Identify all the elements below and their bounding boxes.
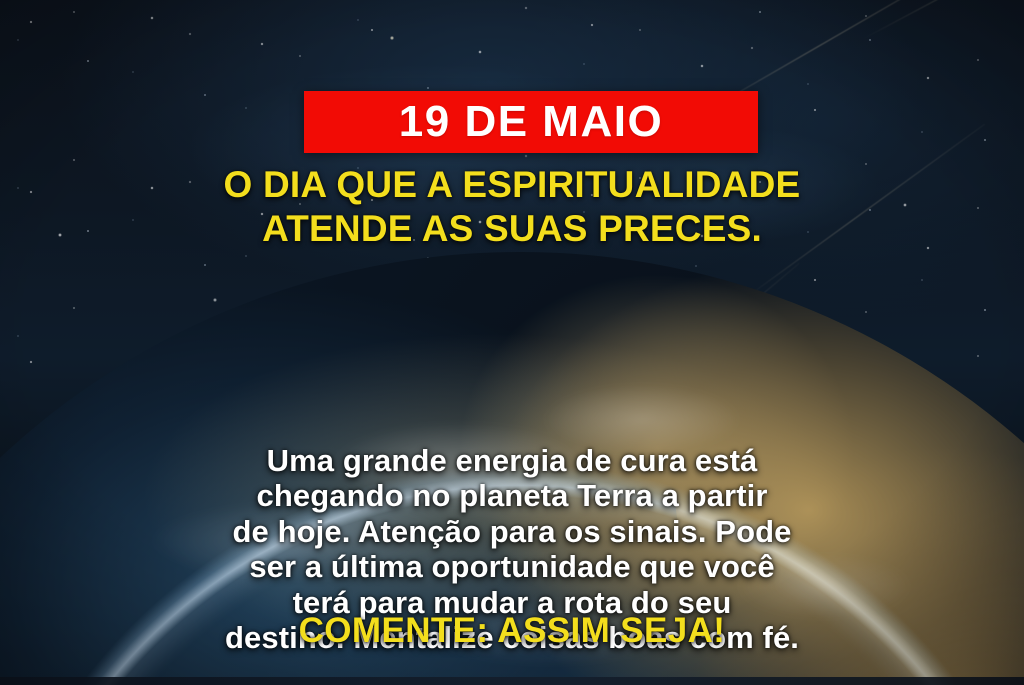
body-line-4: ser a última oportunidade que você bbox=[56, 549, 968, 584]
headline-line-2: ATENDE AS SUAS PRECES. bbox=[30, 207, 994, 251]
body-line-2: chegando no planeta Terra a partir bbox=[56, 478, 968, 513]
body-line-1: Uma grande energia de cura está bbox=[56, 443, 968, 478]
date-banner-text: 19 DE MAIO bbox=[399, 100, 663, 144]
poster-content: 19 DE MAIO O DIA QUE A ESPIRITUALIDADE A… bbox=[0, 0, 1024, 685]
poster-canvas: 19 DE MAIO O DIA QUE A ESPIRITUALIDADE A… bbox=[0, 0, 1024, 685]
headline-line-1: O DIA QUE A ESPIRITUALIDADE bbox=[30, 163, 994, 207]
date-banner: 19 DE MAIO bbox=[304, 91, 758, 153]
headline: O DIA QUE A ESPIRITUALIDADE ATENDE AS SU… bbox=[0, 163, 1024, 250]
body-line-3: de hoje. Atenção para os sinais. Pode bbox=[56, 514, 968, 549]
call-to-action-text: COMENTE: ASSIM SEJA! bbox=[0, 612, 1024, 651]
